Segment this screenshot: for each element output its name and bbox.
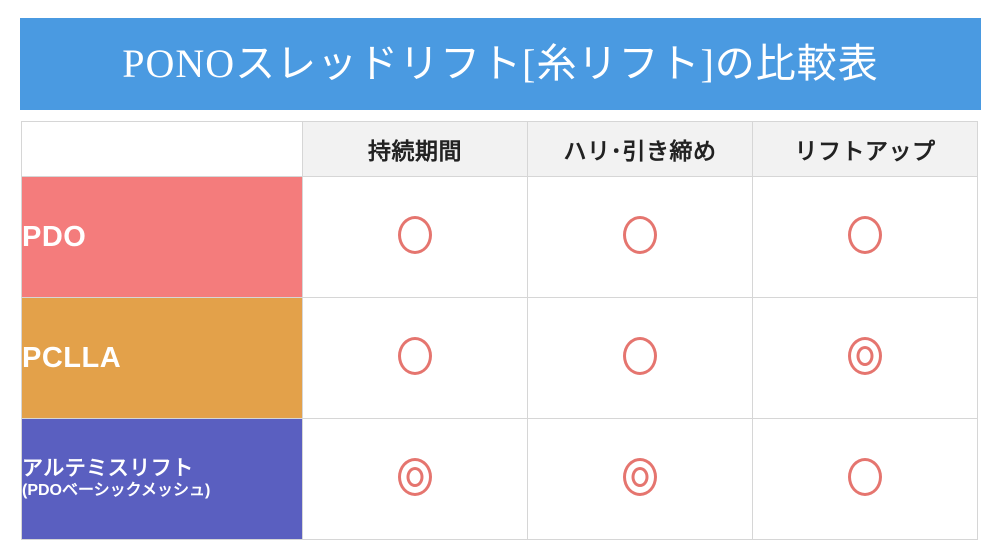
cell-pclla-duration — [303, 298, 528, 419]
circle-single-icon — [398, 337, 432, 375]
cell-artemis-firmness — [528, 419, 753, 540]
column-header-liftup: リフトアップ — [753, 122, 978, 177]
table-row: PDO — [22, 177, 978, 298]
cell-pdo-duration — [303, 177, 528, 298]
row-label-sub: (PDOベーシックメッシュ) — [22, 481, 302, 501]
mark-wrapper — [848, 337, 882, 375]
row-label-pclla: PCLLA — [22, 298, 303, 419]
page-title: PONOスレッドリフト[糸リフト]の比較表 — [122, 44, 879, 84]
circle-single-icon — [848, 458, 882, 496]
row-label-pdo: PDO — [22, 177, 303, 298]
comparison-table-page: PONOスレッドリフト[糸リフト]の比較表 持続期間 ハリ･引き締め リフトアッ… — [0, 0, 1000, 556]
circle-single-icon — [623, 216, 657, 254]
mark-wrapper — [623, 458, 657, 496]
title-banner: PONOスレッドリフト[糸リフト]の比較表 — [20, 18, 981, 110]
cell-artemis-liftup — [753, 419, 978, 540]
cell-pclla-liftup — [753, 298, 978, 419]
circle-double-icon — [848, 337, 882, 375]
cell-artemis-duration — [303, 419, 528, 540]
mark-wrapper — [623, 337, 657, 375]
column-header-duration: 持続期間 — [303, 122, 528, 177]
circle-single-icon — [848, 216, 882, 254]
mark-wrapper — [398, 216, 432, 254]
circle-double-icon — [623, 458, 657, 496]
mark-wrapper — [398, 458, 432, 496]
circle-single-icon — [623, 337, 657, 375]
mark-wrapper — [398, 337, 432, 375]
table-header-row: 持続期間 ハリ･引き締め リフトアップ — [22, 122, 978, 177]
cell-pclla-firmness — [528, 298, 753, 419]
cell-pdo-firmness — [528, 177, 753, 298]
row-label-main: アルテミスリフト — [22, 457, 302, 481]
circle-double-icon — [398, 458, 432, 496]
row-label-main: PDO — [22, 221, 302, 253]
table-row: アルテミスリフト (PDOベーシックメッシュ) — [22, 419, 978, 540]
mark-wrapper — [848, 458, 882, 496]
comparison-table: 持続期間 ハリ･引き締め リフトアップ PDO — [21, 121, 978, 540]
table-row: PCLLA — [22, 298, 978, 419]
row-label-artemis: アルテミスリフト (PDOベーシックメッシュ) — [22, 419, 303, 540]
table-corner-cell — [22, 122, 303, 177]
cell-pdo-liftup — [753, 177, 978, 298]
mark-wrapper — [848, 216, 882, 254]
row-label-main: PCLLA — [22, 342, 302, 374]
mark-wrapper — [623, 216, 657, 254]
circle-single-icon — [398, 216, 432, 254]
column-header-firmness: ハリ･引き締め — [528, 122, 753, 177]
